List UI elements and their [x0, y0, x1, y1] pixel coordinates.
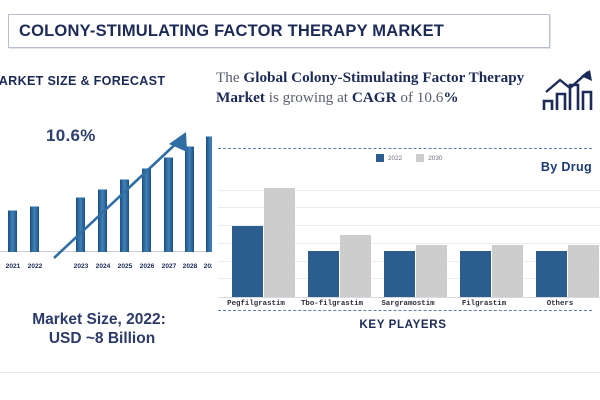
legend-item-2022[interactable]: 2022: [376, 154, 402, 162]
forecast-bar-2025: [120, 179, 129, 252]
forecast-year-label-2022: 2022: [22, 263, 48, 270]
headline-fragment: 10.6: [417, 89, 444, 106]
market-size-footer-line2: USD ~8 Billion: [0, 329, 212, 348]
chart-legend: 20222030: [376, 154, 442, 162]
page-title: COLONY-STIMULATING FACTOR THERAPY MARKET: [9, 22, 444, 41]
bar-Filgrastim-2030: [492, 245, 523, 297]
category-label-Sargramostim: Sargramostim: [368, 300, 448, 308]
divider-top: [218, 148, 592, 149]
by-drug-chart: [218, 172, 600, 298]
bar-Pegfilgrastim-2030: [264, 188, 295, 297]
forecast-bar-2022: [30, 206, 39, 252]
by-drug-panel: The Global Colony-Stimulating Factor The…: [212, 60, 600, 380]
legend-label: 2030: [428, 155, 442, 162]
legend-item-2030[interactable]: 2030: [416, 154, 442, 162]
forecast-bar-2027: [164, 157, 173, 252]
category-label-Tbo-filgrastim: Tbo-filgrastim: [292, 300, 372, 308]
key-players-label: KEY PLAYERS: [212, 318, 594, 331]
market-size-footer-line1: Market Size, 2022:: [0, 310, 212, 329]
legend-swatch-icon: [376, 154, 384, 162]
bar-Others-2030: [568, 245, 599, 297]
market-size-footer: Market Size, 2022: USD ~8 Billion: [0, 310, 212, 349]
bar-Filgrastim-2022: [460, 251, 491, 297]
forecast-year-label-2029: 2029: [198, 263, 212, 270]
bar-Tbo-filgrastim-2030: [340, 235, 371, 297]
headline-fragment: %: [443, 89, 458, 106]
category-label-Others: Others: [520, 300, 600, 308]
category-label-Filgrastim: Filgrastim: [444, 300, 524, 308]
title-banner: COLONY-STIMULATING FACTOR THERAPY MARKET: [8, 14, 550, 48]
headline-text: The Global Colony-Stimulating Factor The…: [216, 68, 546, 108]
bar-Sargramostim-2022: [384, 251, 415, 297]
bar-chart-growth-icon: [540, 70, 596, 114]
market-size-forecast-panel: MARKET SIZE & FORECAST 10.6% 20212022202…: [0, 60, 212, 370]
legend-label: 2022: [388, 155, 402, 162]
forecast-bar-2026: [142, 168, 151, 252]
forecast-bar-2021: [8, 210, 17, 252]
headline-fragment: of: [397, 89, 417, 106]
forecast-bar-2028: [185, 146, 194, 252]
divider-bottom: [218, 310, 592, 311]
bar-Sargramostim-2030: [416, 245, 447, 297]
bar-Others-2022: [536, 251, 567, 297]
forecast-bar-2024: [98, 189, 107, 252]
chart-baseline: [218, 297, 600, 298]
headline-fragment: The: [216, 69, 243, 86]
forecast-bar-2023: [76, 197, 85, 252]
market-size-forecast-chart: 10.6% 2021202220232024202520262027202820…: [0, 100, 212, 300]
footer-rule: [0, 372, 600, 373]
market-size-forecast-heading: MARKET SIZE & FORECAST: [0, 74, 208, 88]
infographic-canvas: COLONY-STIMULATING FACTOR THERAPY MARKET…: [0, 0, 600, 400]
bar-Pegfilgrastim-2022: [232, 226, 263, 297]
bar-Tbo-filgrastim-2022: [308, 251, 339, 297]
headline-fragment: is growing at: [265, 89, 352, 106]
legend-swatch-icon: [416, 154, 424, 162]
cagr-callout: 10.6%: [46, 126, 96, 146]
headline-fragment: CAGR: [352, 89, 397, 106]
category-label-Pegfilgrastim: Pegfilgrastim: [216, 300, 296, 308]
